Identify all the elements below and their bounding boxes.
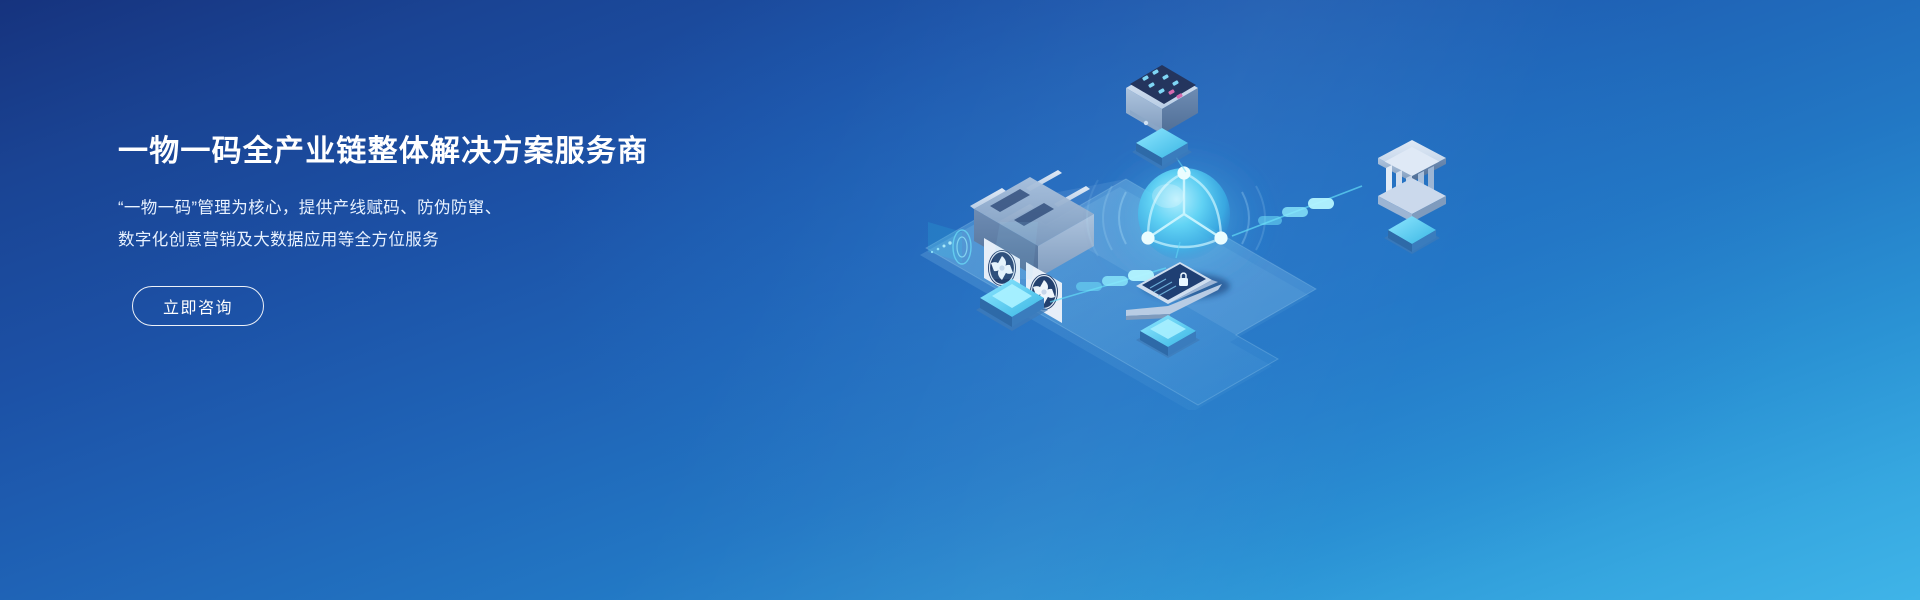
hero-text-block: 一物一码全产业链整体解决方案服务商 “一物一码”管理为核心，提供产线赋码、防伪防…	[118, 134, 758, 326]
pos-terminal-icon	[1126, 65, 1198, 134]
hero-banner: 一物一码全产业链整体解决方案服务商 “一物一码”管理为核心，提供产线赋码、防伪防…	[0, 0, 1920, 600]
bank-building-icon	[1378, 140, 1446, 222]
hero-subtitle: “一物一码”管理为核心，提供产线赋码、防伪防窜、 数字化创意营销及大数据应用等全…	[118, 192, 758, 256]
consult-now-button[interactable]: 立即咨询	[132, 286, 264, 326]
page-title: 一物一码全产业链整体解决方案服务商	[118, 134, 758, 170]
hero-subtitle-line-2: 数字化创意营销及大数据应用等全方位服务	[118, 224, 758, 256]
hero-illustration	[880, 10, 1600, 410]
hero-subtitle-line-1: “一物一码”管理为核心，提供产线赋码、防伪防窜、	[118, 192, 758, 224]
pedestal-cube	[1384, 216, 1440, 254]
